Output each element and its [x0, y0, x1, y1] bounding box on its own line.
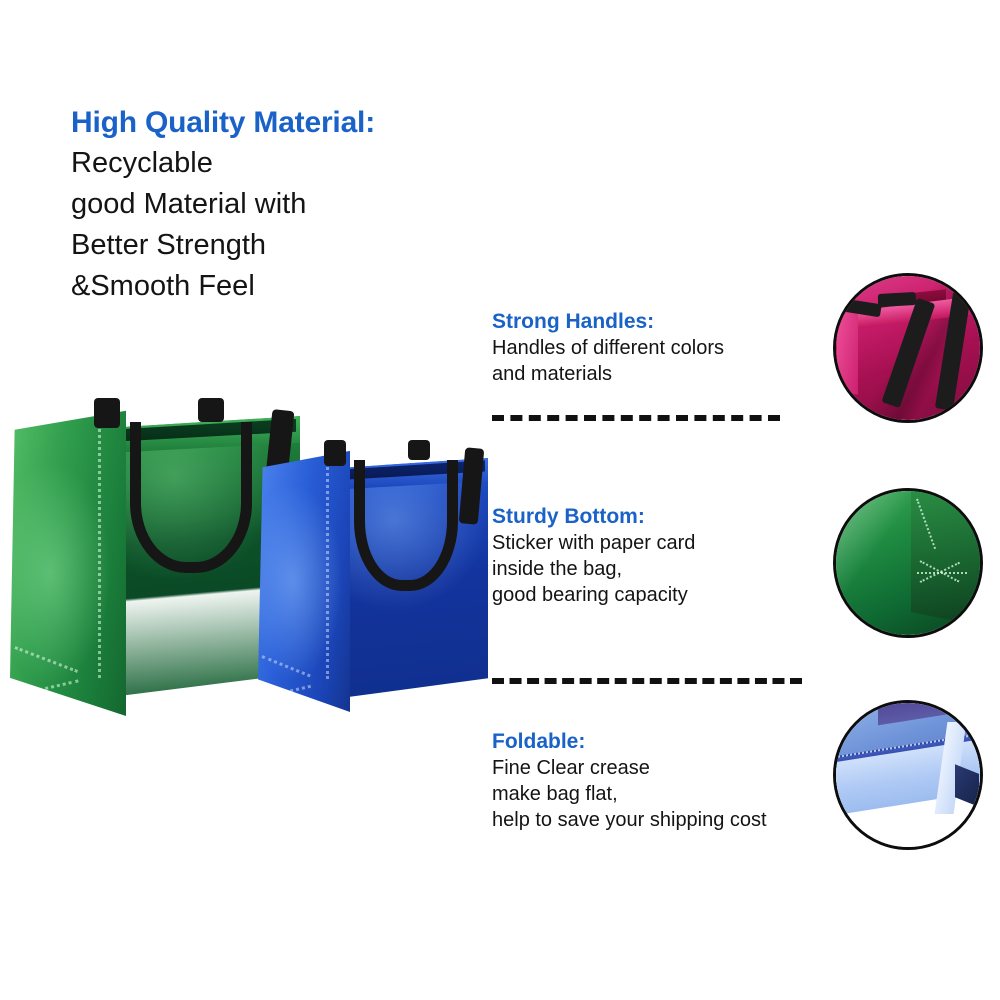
headline-title: High Quality Material: [71, 103, 491, 143]
feature-line-sturdy-bottom-3: good bearing capacity [492, 582, 892, 608]
blue-handle-anchor-right [408, 440, 430, 460]
divider-2 [492, 678, 802, 684]
green-bag-bottom-photo [834, 489, 982, 637]
feature-line-sturdy-bottom-2: inside the bag, [492, 556, 892, 582]
headline-line-3: Better Strength [71, 225, 491, 266]
feature-line-foldable-2: make bag flat, [492, 781, 892, 807]
green-handle-anchor-left [94, 398, 120, 428]
headline-block: High Quality Material: Recyclable good M… [71, 103, 491, 307]
magenta-bag-side-panel [837, 308, 858, 394]
inset-circle-strong-handles [833, 273, 983, 423]
green-bag-bottom-seam-1 [14, 646, 78, 673]
feature-title-foldable: Foldable: [492, 728, 892, 755]
green-bag-seam-horizontal [917, 572, 967, 574]
feature-line-foldable-1: Fine Clear crease [492, 755, 892, 781]
inset-circle-foldable [833, 700, 983, 850]
feature-line-sturdy-bottom-1: Sticker with paper card [492, 530, 892, 556]
feature-foldable: Foldable: Fine Clear crease make bag fla… [492, 728, 892, 833]
blue-handle-anchor-left [324, 440, 346, 466]
product-infographic: High Quality Material: Recyclable good M… [0, 0, 1000, 1000]
blue-bag-side-seam [326, 456, 334, 679]
green-bag-side-panel [10, 398, 126, 716]
feature-line-foldable-3: help to save your shipping cost [492, 807, 892, 833]
magenta-bag-handles-photo [834, 274, 982, 422]
feature-title-sturdy-bottom: Sturdy Bottom: [492, 503, 892, 530]
blue-bag-side-panel [258, 440, 350, 712]
feature-sturdy-bottom: Sturdy Bottom: Sticker with paper card i… [492, 503, 892, 608]
blue-handle-loop-front [354, 460, 458, 591]
magenta-handle-mid [878, 292, 917, 307]
blue-bag-bottom-seam-1 [261, 655, 310, 677]
folded-bag-crease-photo [834, 701, 982, 849]
feature-line-strong-handles-2: and materials [492, 361, 892, 387]
feature-line-strong-handles-1: Handles of different colors [492, 335, 892, 361]
product-bag-green [10, 398, 300, 716]
feature-strong-handles: Strong Handles: Handles of different col… [492, 308, 892, 387]
green-bag-side-seam [98, 417, 106, 678]
headline-line-4: &Smooth Feel [71, 266, 491, 307]
inset-circle-sturdy-bottom [833, 488, 983, 638]
blue-bag-bottom-seam-2 [261, 685, 310, 699]
green-bag-bottom-seam-2 [14, 679, 78, 697]
green-handle-anchor-right [198, 398, 224, 422]
divider-1 [492, 415, 780, 421]
headline-line-1: Recyclable [71, 143, 491, 184]
headline-line-2: good Material with [71, 184, 491, 225]
product-bag-blue [258, 440, 488, 712]
green-handle-loop-front [130, 422, 252, 573]
feature-title-strong-handles: Strong Handles: [492, 308, 892, 335]
